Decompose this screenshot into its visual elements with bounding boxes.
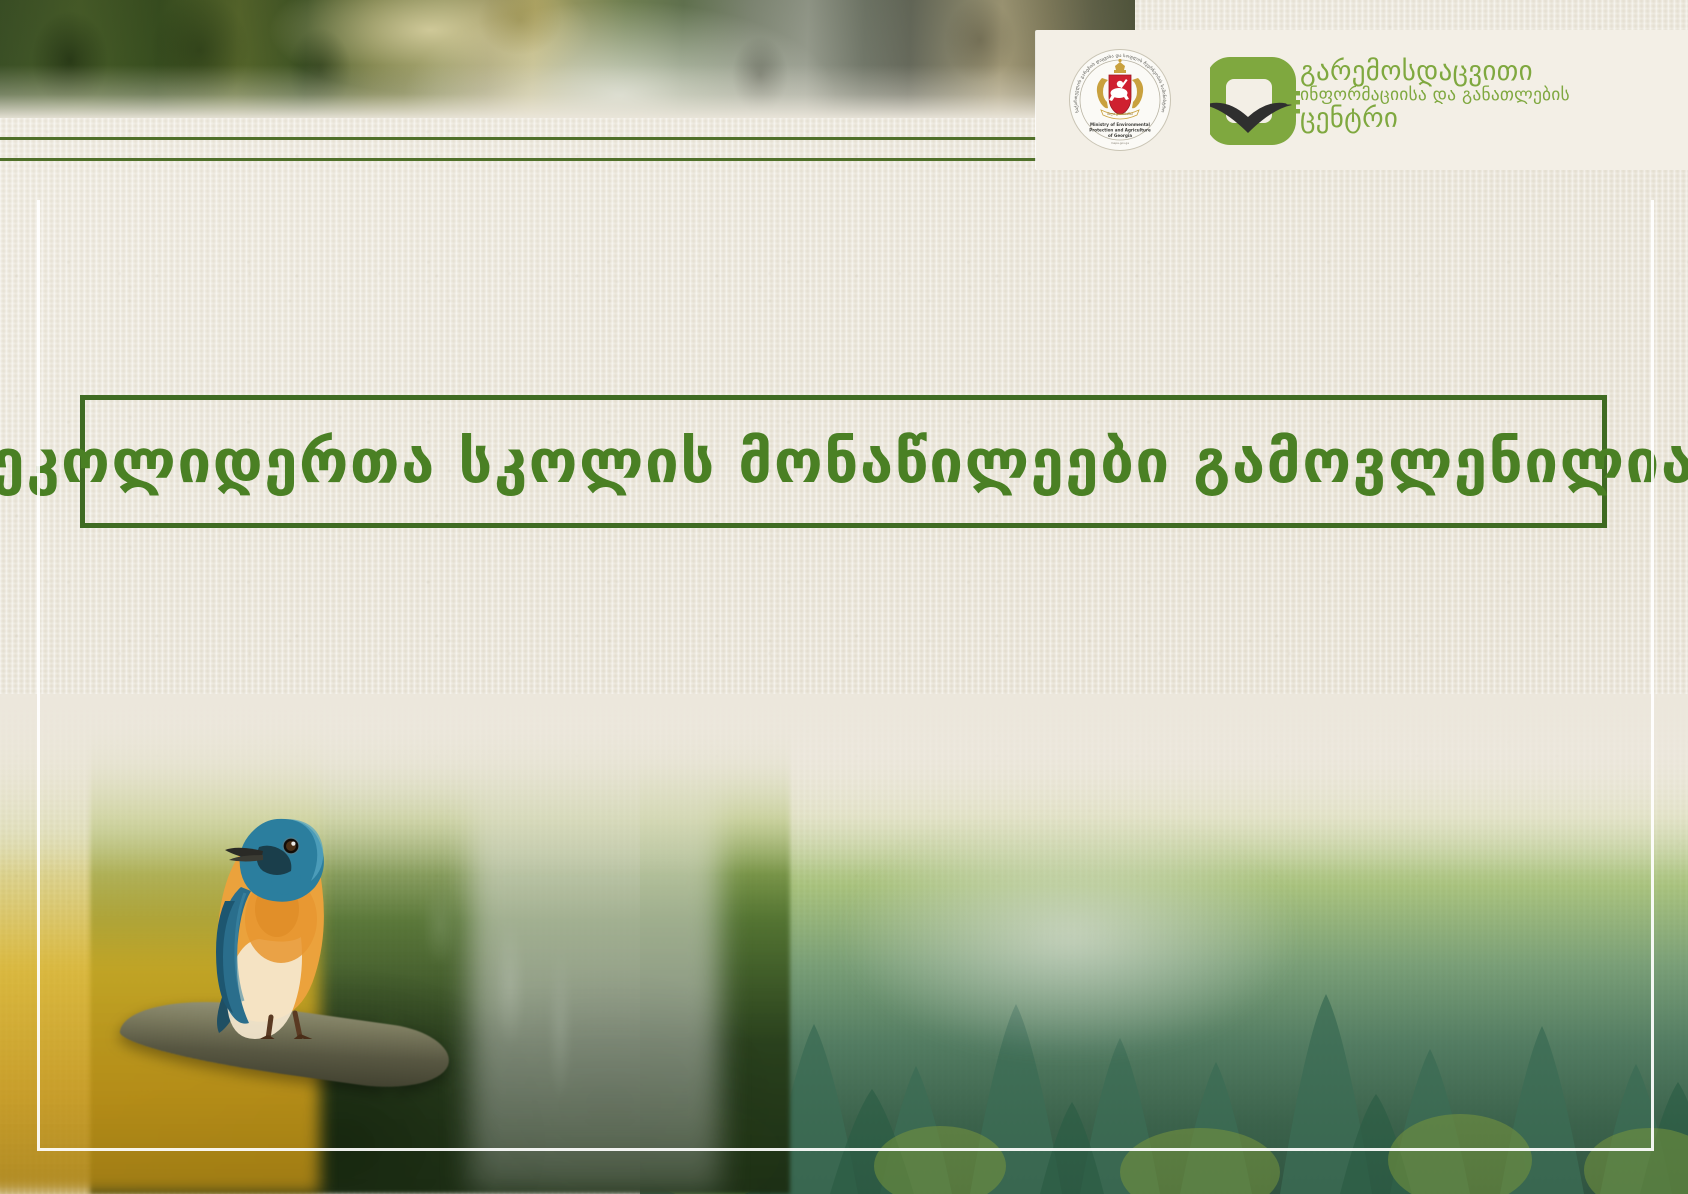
eco-logo-line-2: ინფორმაციისა და განათლების (1300, 87, 1630, 105)
top-photo-fade-overlay (0, 0, 1135, 118)
ministry-seal-icon: საქართველოს გარემოს დაცვისა და სოფლის მე… (1068, 48, 1172, 152)
eco-center-logo-text: გარემოსდაცვითი ინფორმაციისა და განათლები… (1300, 58, 1630, 133)
eco-logo-line-3: ცენტრი (1300, 105, 1630, 133)
blue-throated-flycatcher-bird (185, 789, 375, 1039)
svg-text:of Georgia: of Georgia (1108, 133, 1132, 138)
eco-logo-line-1: გარემოსდაცვითი (1300, 58, 1630, 86)
svg-text:Protection and Agriculture: Protection and Agriculture (1089, 127, 1151, 132)
page-title: ეკოლიდერთა სკოლის მონაწილეები გამოვლენილ… (0, 432, 1688, 492)
svg-text:ძალა ერთობაშია: ძალა ერთობაშია (1107, 112, 1133, 116)
header-rule-lower (0, 158, 1112, 161)
svg-text:mepa.gov.ge: mepa.gov.ge (1111, 141, 1129, 145)
poster-canvas: საქართველოს გარემოს დაცვისა და სოფლის მე… (0, 0, 1688, 1194)
svg-text:Ministry of Environmental: Ministry of Environmental (1090, 122, 1151, 127)
header-rule-upper (0, 137, 1112, 140)
title-box: ეკოლიდერთა სკოლის მონაწილეები გამოვლენილ… (80, 395, 1607, 528)
eco-center-logo-icon (1210, 55, 1300, 147)
